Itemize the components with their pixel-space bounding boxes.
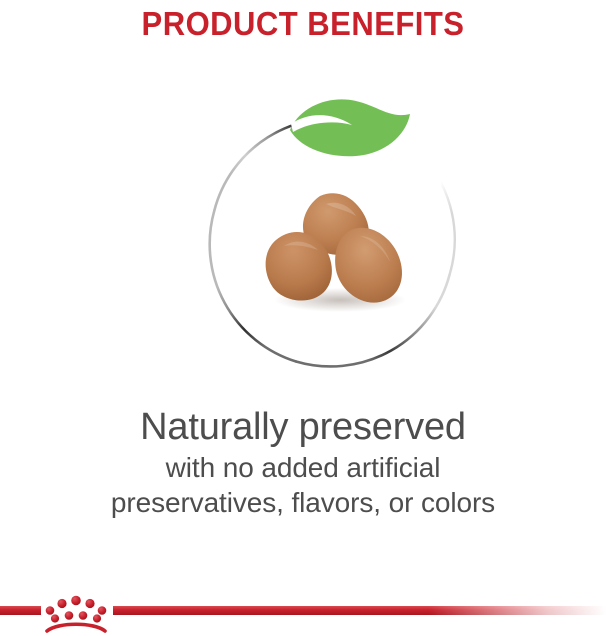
brand-footer (0, 596, 606, 636)
red-rule-left (0, 606, 41, 615)
claim-subline-1: with no added artificial (0, 450, 606, 485)
claim-subline-2: preservatives, flavors, or colors (0, 485, 606, 520)
leaf-icon (286, 92, 414, 162)
claim-headline: Naturally preserved (0, 404, 606, 450)
red-rule-right (113, 606, 606, 615)
kibble-cluster-icon (248, 188, 428, 318)
benefit-claim: Naturally preserved with no added artifi… (0, 404, 606, 520)
product-benefits-panel: PRODUCT BENEFITS (0, 0, 606, 636)
royal-canin-crown-logo (44, 587, 108, 635)
page-title: PRODUCT BENEFITS (18, 4, 588, 44)
benefit-hero (0, 70, 606, 390)
